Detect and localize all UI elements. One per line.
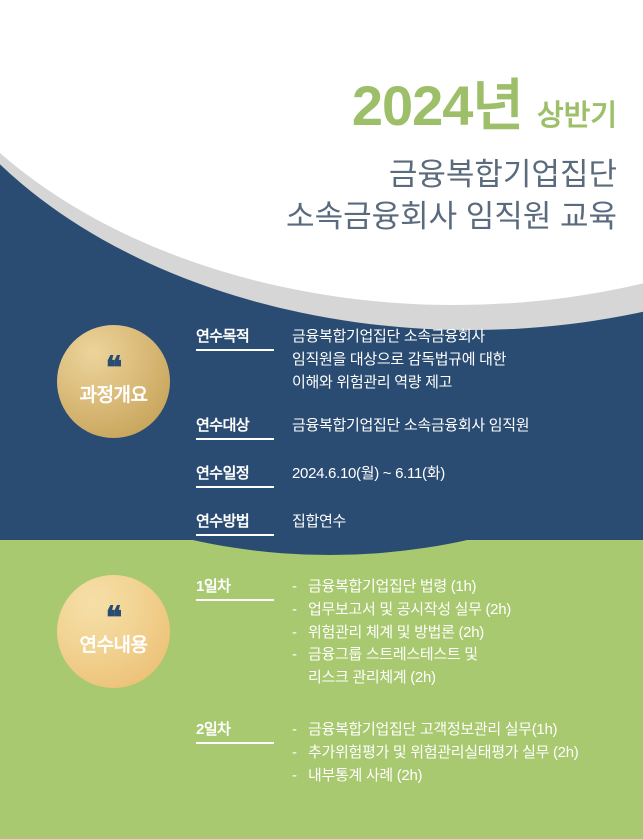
content-rows: 1일차 - 금융복합기업집단 법령 (1h) - 업무보고서 및 공시작성 실무… <box>196 575 636 787</box>
badge-label-course-content: 연수내용 <box>80 630 148 657</box>
day2-item-2: 추가위험평가 및 위험관리실태평가 실무 (2h) <box>308 742 578 765</box>
table-row: 1일차 - 금융복합기업집단 법령 (1h) - 업무보고서 및 공시작성 실무… <box>196 575 636 690</box>
day2-item-3: 내부통계 사례 (2h) <box>308 765 578 788</box>
day1-item-2: 업무보고서 및 공시작성 실무 (2h) <box>308 599 511 622</box>
bullet-dash-icon: - <box>292 765 308 788</box>
row-label-day1: 1일차 <box>196 575 274 601</box>
list-item: - 금융복합기업집단 고객정보관리 실무(1h) <box>292 719 578 742</box>
year-title: 2024년 <box>352 78 523 134</box>
list-item: - 내부통계 사례 (2h) <box>292 765 578 788</box>
row-value-method: 집합연수 <box>292 510 346 534</box>
row-label-method: 연수방법 <box>196 510 274 536</box>
subtitle-line-2: 소속금융회사 임직원 교육 <box>0 196 617 238</box>
row-label-target: 연수대상 <box>196 414 274 440</box>
day2-item-3-line-1: 내부통계 사례 (2h) <box>308 765 578 788</box>
purpose-line-3: 이해와 위험관리 역량 제고 <box>292 372 506 395</box>
row-value-purpose: 금융복합기업집단 소속금융회사 임직원을 대상으로 감독법규에 대한 이해와 위… <box>292 325 506 394</box>
purpose-line-1: 금융복합기업집단 소속금융회사 <box>292 326 506 349</box>
badge-course-overview: ❝ 과정개요 <box>57 325 170 438</box>
day1-item-3: 위험관리 체계 및 방법론 (2h) <box>308 622 511 645</box>
day1-item-4-line-2: 리스크 관리체계 (2h) <box>308 667 511 690</box>
day2-item-2-line-1: 추가위험평가 및 위험관리실태평가 실무 (2h) <box>308 742 578 765</box>
row-value-schedule: 2024.6.10(월) ~ 6.11(화) <box>292 462 445 486</box>
day1-item-1-line-1: 금융복합기업집단 법령 (1h) <box>308 576 511 599</box>
table-row: 2일차 - 금융복합기업집단 고객정보관리 실무(1h) - 추가위험평가 및 … <box>196 718 636 787</box>
day2-bullet-list: - 금융복합기업집단 고객정보관리 실무(1h) - 추가위험평가 및 위험관리… <box>292 718 578 787</box>
day1-item-4-line-1: 금융그룹 스트레스테스트 및 <box>308 644 511 667</box>
quote-mark-icon: ❝ <box>106 356 122 379</box>
quote-mark-icon: ❝ <box>106 606 122 629</box>
subtitle-line-1: 금융복합기업집단 <box>0 154 617 196</box>
table-row: 연수방법 집합연수 <box>196 510 636 536</box>
row-label-schedule: 연수일정 <box>196 462 274 488</box>
bullet-dash-icon: - <box>292 622 308 645</box>
bullet-dash-icon: - <box>292 719 308 742</box>
title-row: 2024년 상반기 <box>0 78 617 134</box>
table-row: 연수목적 금융복합기업집단 소속금융회사 임직원을 대상으로 감독법규에 대한 … <box>196 325 636 394</box>
bullet-dash-icon: - <box>292 644 308 690</box>
bullet-dash-icon: - <box>292 599 308 622</box>
poster-header: 2024년 상반기 금융복합기업집단 소속금융회사 임직원 교육 <box>0 78 617 238</box>
table-row: 연수일정 2024.6.10(월) ~ 6.11(화) <box>196 462 636 488</box>
poster-root: 2024년 상반기 금융복합기업집단 소속금융회사 임직원 교육 ❝ 과정개요 … <box>0 0 643 839</box>
target-line-1: 금융복합기업집단 소속금융회사 임직원 <box>292 415 529 438</box>
row-label-day2: 2일차 <box>196 718 274 744</box>
half-year-title: 상반기 <box>537 102 617 131</box>
list-item: - 업무보고서 및 공시작성 실무 (2h) <box>292 599 511 622</box>
row-label-purpose: 연수목적 <box>196 325 274 351</box>
schedule-line-1: 2024.6.10(월) ~ 6.11(화) <box>292 463 445 486</box>
overview-rows: 연수목적 금융복합기업집단 소속금융회사 임직원을 대상으로 감독법규에 대한 … <box>196 325 636 536</box>
badge-course-content: ❝ 연수내용 <box>57 575 170 688</box>
purpose-line-2: 임직원을 대상으로 감독법규에 대한 <box>292 349 506 372</box>
row-value-target: 금융복합기업집단 소속금융회사 임직원 <box>292 414 529 438</box>
bullet-dash-icon: - <box>292 576 308 599</box>
table-row: 연수대상 금융복합기업집단 소속금융회사 임직원 <box>196 414 636 440</box>
bullet-dash-icon: - <box>292 742 308 765</box>
day1-bullet-list: - 금융복합기업집단 법령 (1h) - 업무보고서 및 공시작성 실무 (2h… <box>292 575 511 690</box>
list-item: - 추가위험평가 및 위험관리실태평가 실무 (2h) <box>292 742 578 765</box>
day1-item-4: 금융그룹 스트레스테스트 및 리스크 관리체계 (2h) <box>308 644 511 690</box>
day1-item-1: 금융복합기업집단 법령 (1h) <box>308 576 511 599</box>
day1-item-2-line-1: 업무보고서 및 공시작성 실무 (2h) <box>308 599 511 622</box>
list-item: - 금융그룹 스트레스테스트 및 리스크 관리체계 (2h) <box>292 644 511 690</box>
day2-item-1: 금융복합기업집단 고객정보관리 실무(1h) <box>308 719 578 742</box>
badge-label-course-overview: 과정개요 <box>80 380 148 407</box>
list-item: - 금융복합기업집단 법령 (1h) <box>292 576 511 599</box>
method-line-1: 집합연수 <box>292 511 346 534</box>
day1-item-3-line-1: 위험관리 체계 및 방법론 (2h) <box>308 622 511 645</box>
poster-subtitle: 금융복합기업집단 소속금융회사 임직원 교육 <box>0 154 617 238</box>
list-item: - 위험관리 체계 및 방법론 (2h) <box>292 622 511 645</box>
day2-item-1-line-1: 금융복합기업집단 고객정보관리 실무(1h) <box>308 719 578 742</box>
